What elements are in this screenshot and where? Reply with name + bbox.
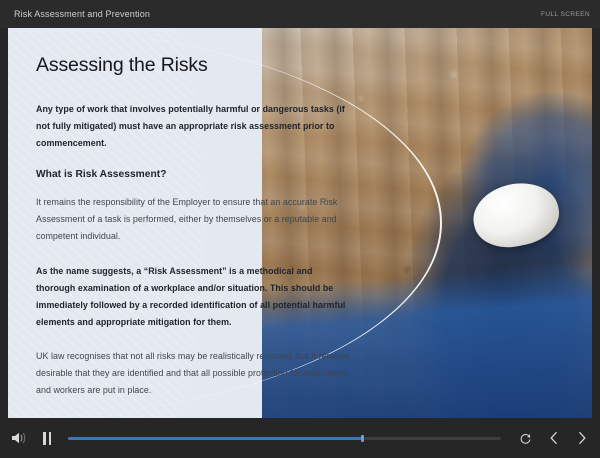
page-title: Assessing the Risks [36, 54, 351, 77]
progress-knob[interactable] [361, 435, 364, 442]
slide-content: Assessing the Risks Any type of work tha… [36, 54, 351, 416]
progress-fill [68, 437, 362, 440]
player-controls [0, 418, 600, 458]
slide-paragraph-4: UK law recognises that not all risks may… [36, 348, 351, 399]
playback-progress-bar[interactable] [68, 430, 501, 446]
player-topbar: Risk Assessment and Prevention FULL SCRE… [0, 0, 600, 28]
slide-stage: Assessing the Risks Any type of work tha… [8, 28, 592, 418]
replay-icon[interactable] [519, 431, 532, 445]
progress-track[interactable] [68, 437, 501, 440]
fullscreen-button[interactable]: FULL SCREEN [541, 11, 590, 18]
course-title: Risk Assessment and Prevention [14, 9, 150, 19]
slide-paragraph-2: It remains the responsibility of the Emp… [36, 194, 351, 245]
previous-slide-button[interactable] [548, 431, 560, 445]
course-player: Risk Assessment and Prevention FULL SCRE… [0, 0, 600, 458]
pause-bar-left [43, 432, 46, 445]
pause-button[interactable] [40, 430, 54, 446]
navigation-buttons [519, 431, 588, 445]
next-slide-button[interactable] [576, 431, 588, 445]
slide-paragraph-3: As the name suggests, a “Risk Assessment… [36, 263, 351, 331]
slide-subheading-what-is-risk-assessment: What is Risk Assessment? [36, 169, 351, 180]
pause-bar-right [49, 432, 52, 445]
slide-paragraph-1: Any type of work that involves potential… [36, 101, 351, 152]
speaker-icon[interactable] [10, 430, 28, 446]
